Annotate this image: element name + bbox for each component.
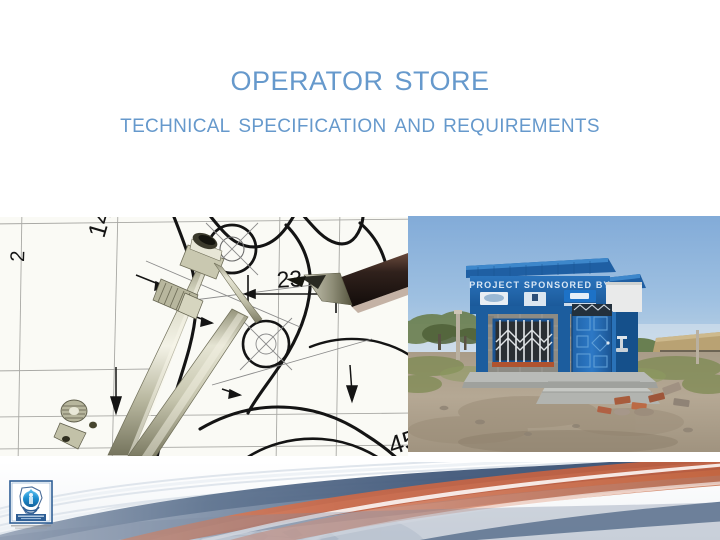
title-block: Operator Store Technical Specification a… — [0, 56, 720, 140]
page-title: Operator Store — [0, 56, 720, 100]
page-subtitle: Technical Specification and Requirements — [0, 106, 720, 140]
decorative-swoosh-band — [0, 462, 720, 540]
water-services-logo — [9, 480, 53, 530]
logo-graphic — [9, 480, 53, 530]
svg-text:2: 2 — [7, 250, 29, 262]
swoosh-graphic — [0, 462, 720, 540]
operator-store-building-photo: PROJECT SPONSORED BY — [408, 216, 720, 452]
presentation-slide: Operator Store Technical Specification a… — [0, 0, 720, 540]
building-photo-illustration: PROJECT SPONSORED BY — [408, 216, 720, 452]
technical-drawing-photo: 23 146 Ø 49 — [0, 217, 408, 456]
building-sign-text: PROJECT SPONSORED BY — [469, 280, 611, 290]
technical-drawing-illustration: 23 146 Ø 49 — [0, 217, 408, 456]
